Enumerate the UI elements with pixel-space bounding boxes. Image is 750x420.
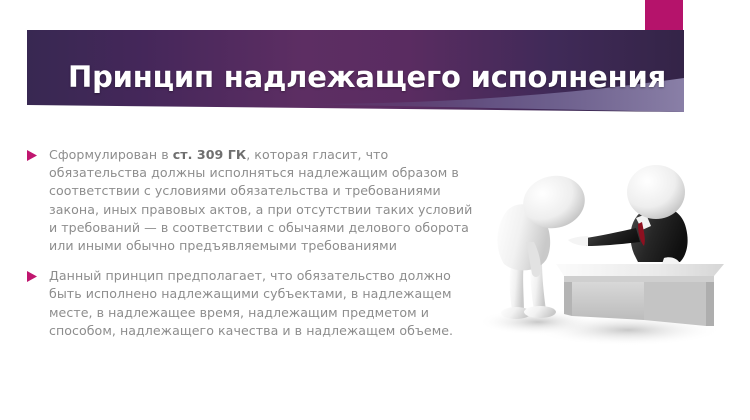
pointing-hand xyxy=(568,236,588,246)
slide-body: Сформулирован в ст. 309 ГК, которая глас… xyxy=(27,146,475,352)
presentation-slide: Принцип надлежащего исполнения Сформулир… xyxy=(0,0,750,420)
magenta-accent-bar xyxy=(645,0,683,70)
bullet-text-2: Данный принцип предполагает, что обязате… xyxy=(49,267,475,340)
bullet-1-tail: , которая гласит, что обязательства долж… xyxy=(49,147,472,253)
slide-title: Принцип надлежащего исполнения xyxy=(68,54,628,100)
boss-figure xyxy=(568,165,688,267)
banner-body xyxy=(27,30,684,112)
bullet-item-2: Данный принцип предполагает, что обязате… xyxy=(27,267,475,340)
bullet-1-lead: Сформулирован в xyxy=(49,147,173,162)
banner-shape xyxy=(0,0,750,135)
bullet-text-1: Сформулирован в ст. 309 ГК, которая глас… xyxy=(49,146,475,255)
bullet-2-lead: Данный принцип предполагает, что обязате… xyxy=(49,268,453,338)
bullet-item-1: Сформулирован в ст. 309 ГК, которая глас… xyxy=(27,146,475,255)
title-banner: Принцип надлежащего исполнения xyxy=(0,0,750,135)
triangle-bullet-icon xyxy=(27,146,49,161)
banner-swoosh xyxy=(300,78,684,112)
slide-illustration xyxy=(468,150,750,355)
triangle-bullet-icon xyxy=(27,267,49,282)
bullet-1-bold: ст. 309 ГК xyxy=(173,147,246,162)
